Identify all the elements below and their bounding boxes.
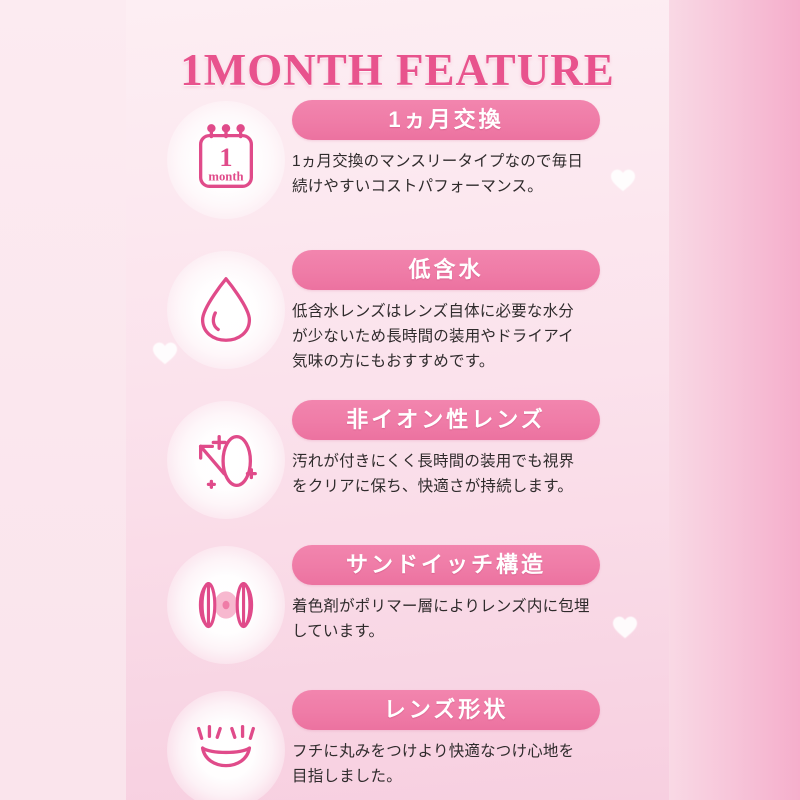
calendar-one-month-icon: 1 month bbox=[187, 121, 265, 199]
page-title: 1MONTH FEATURE bbox=[126, 44, 669, 96]
lens-shape-curve-icon bbox=[187, 711, 265, 789]
right-margin-strip bbox=[669, 0, 800, 800]
feature-heading-pill: 非イオン性レンズ bbox=[292, 400, 600, 440]
infographic-canvas: 1MONTH FEATURE 1 month 1ヵ月 bbox=[0, 0, 800, 800]
feature-heading-pill: レンズ形状 bbox=[292, 690, 600, 730]
feature-description: フチに丸みをつけより快適なつけ心地を 目指しました。 bbox=[292, 739, 612, 789]
feature-row-lens-shape: レンズ形状 フチに丸みをつけより快適なつけ心地を 目指しました。 bbox=[126, 688, 669, 800]
feature-row-one-month: 1 month 1ヵ月交換 1ヵ月交換のマンスリータイプなので毎日 続けやすいコ… bbox=[126, 98, 669, 243]
svg-text:1: 1 bbox=[219, 143, 232, 172]
feature-row-low-water: 低含水 低含水レンズはレンズ自体に必要な水分 が少ないため長時間の装用やドライア… bbox=[126, 248, 669, 408]
sandwich-structure-lens-icon bbox=[187, 566, 265, 644]
feature-row-non-ionic: 非イオン性レンズ 汚れが付きにくく長時間の装用でも視界 をクリアに保ち、快適さが… bbox=[126, 398, 669, 543]
feature-icon-container bbox=[166, 250, 286, 370]
feature-row-sandwich: サンドイッチ構造 着色剤がポリマー層によりレンズ内に包埋 しています。 bbox=[126, 543, 669, 688]
feature-icon-container: 1 month bbox=[166, 100, 286, 220]
feature-icon-container bbox=[166, 545, 286, 665]
feature-text-column: 低含水 低含水レンズはレンズ自体に必要な水分 が少ないため長時間の装用やドライア… bbox=[286, 248, 669, 374]
left-margin-strip bbox=[0, 0, 126, 800]
feature-description: 低含水レンズはレンズ自体に必要な水分 が少ないため長時間の装用やドライアイ 気味… bbox=[292, 299, 612, 374]
feature-description: 着色剤がポリマー層によりレンズ内に包埋 しています。 bbox=[292, 594, 612, 644]
feature-description: 汚れが付きにくく長時間の装用でも視界 をクリアに保ち、快適さが持続します。 bbox=[292, 449, 612, 499]
feature-description: 1ヵ月交換のマンスリータイプなので毎日 続けやすいコストパフォーマンス。 bbox=[292, 149, 612, 199]
water-droplet-icon bbox=[187, 271, 265, 349]
feature-heading-pill: 1ヵ月交換 bbox=[292, 100, 600, 140]
feature-heading-pill: 低含水 bbox=[292, 250, 600, 290]
non-ionic-lens-sparkle-icon bbox=[187, 421, 265, 499]
feature-heading-pill: サンドイッチ構造 bbox=[292, 545, 600, 585]
feature-icon-container bbox=[166, 690, 286, 800]
feature-text-column: 1ヵ月交換 1ヵ月交換のマンスリータイプなので毎日 続けやすいコストパフォーマン… bbox=[286, 98, 669, 199]
feature-text-column: サンドイッチ構造 着色剤がポリマー層によりレンズ内に包埋 しています。 bbox=[286, 543, 669, 644]
feature-icon-container bbox=[166, 400, 286, 520]
feature-text-column: レンズ形状 フチに丸みをつけより快適なつけ心地を 目指しました。 bbox=[286, 688, 669, 789]
svg-text:month: month bbox=[208, 169, 243, 183]
feature-text-column: 非イオン性レンズ 汚れが付きにくく長時間の装用でも視界 をクリアに保ち、快適さが… bbox=[286, 398, 669, 499]
